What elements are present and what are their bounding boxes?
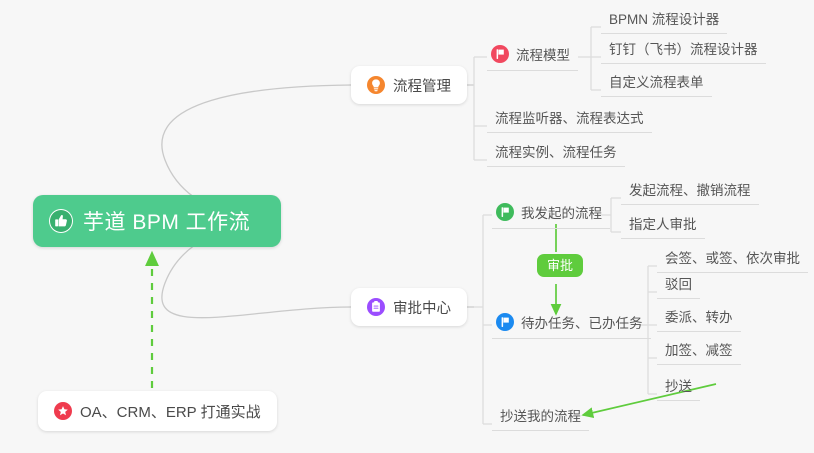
annotation-approve-tag: 审批 bbox=[537, 254, 583, 277]
annotation-label: 审批 bbox=[547, 258, 573, 273]
node-label: 我发起的流程 bbox=[521, 202, 602, 222]
node-process-management[interactable]: 流程管理 bbox=[351, 66, 467, 104]
node-process-model[interactable]: 流程模型 bbox=[487, 43, 578, 71]
flag-icon bbox=[491, 45, 509, 63]
node-cc[interactable]: 抄送 bbox=[657, 375, 700, 401]
node-countersign-orsign-sequential[interactable]: 会签、或签、依次审批 bbox=[657, 247, 808, 273]
star-icon bbox=[54, 402, 72, 420]
node-label: 指定人审批 bbox=[629, 213, 697, 233]
node-label: 流程模型 bbox=[516, 44, 570, 64]
node-label: 流程监听器、流程表达式 bbox=[495, 107, 644, 127]
node-label: OA、CRM、ERP 打通实战 bbox=[80, 401, 261, 422]
node-label: 自定义流程表单 bbox=[609, 71, 704, 91]
node-label: 待办任务、已办任务 bbox=[521, 312, 643, 332]
node-label: 加签、减签 bbox=[665, 339, 733, 359]
node-delegate-transfer[interactable]: 委派、转办 bbox=[657, 306, 741, 332]
node-start-cancel-process[interactable]: 发起流程、撤销流程 bbox=[621, 179, 759, 205]
node-label: 抄送 bbox=[665, 375, 692, 395]
node-label: 发起流程、撤销流程 bbox=[629, 179, 751, 199]
thumbs-up-icon bbox=[49, 209, 73, 233]
node-cc-to-me-process[interactable]: 抄送我的流程 bbox=[492, 405, 589, 431]
clipboard-icon bbox=[367, 298, 385, 316]
node-reject[interactable]: 驳回 bbox=[657, 273, 700, 299]
flag-icon bbox=[496, 313, 514, 331]
node-process-instance-task[interactable]: 流程实例、流程任务 bbox=[487, 141, 625, 167]
node-integration-practice[interactable]: OA、CRM、ERP 打通实战 bbox=[38, 391, 277, 431]
flag-icon bbox=[496, 203, 514, 221]
node-label: 流程管理 bbox=[393, 75, 451, 96]
node-my-initiated-process[interactable]: 我发起的流程 bbox=[492, 201, 610, 229]
node-label: 钉钉（飞书）流程设计器 bbox=[609, 38, 758, 58]
node-label: 驳回 bbox=[665, 273, 692, 293]
node-label: 审批中心 bbox=[393, 297, 451, 318]
node-custom-process-form[interactable]: 自定义流程表单 bbox=[601, 71, 712, 97]
node-dingtalk-feishu-designer[interactable]: 钉钉（飞书）流程设计器 bbox=[601, 38, 766, 64]
node-label: BPMN 流程设计器 bbox=[609, 8, 719, 28]
node-label: 抄送我的流程 bbox=[500, 405, 581, 425]
node-process-listener-expression[interactable]: 流程监听器、流程表达式 bbox=[487, 107, 652, 133]
lightbulb-icon bbox=[367, 76, 385, 94]
node-approval-center[interactable]: 审批中心 bbox=[351, 288, 467, 326]
node-todo-done-tasks[interactable]: 待办任务、已办任务 bbox=[492, 311, 651, 339]
node-designated-approver[interactable]: 指定人审批 bbox=[621, 213, 705, 239]
mindmap-canvas: 芋道 BPM 工作流 流程管理 流程模型 BPMN 流程设计器 钉钉（飞书）流程… bbox=[0, 0, 814, 453]
node-label: 委派、转办 bbox=[665, 306, 733, 326]
root-node[interactable]: 芋道 BPM 工作流 bbox=[33, 195, 281, 247]
node-bpmn-designer[interactable]: BPMN 流程设计器 bbox=[601, 8, 727, 34]
node-add-remove-sign[interactable]: 加签、减签 bbox=[657, 339, 741, 365]
node-label: 会签、或签、依次审批 bbox=[665, 247, 800, 267]
root-label: 芋道 BPM 工作流 bbox=[83, 206, 250, 236]
node-label: 流程实例、流程任务 bbox=[495, 141, 617, 161]
